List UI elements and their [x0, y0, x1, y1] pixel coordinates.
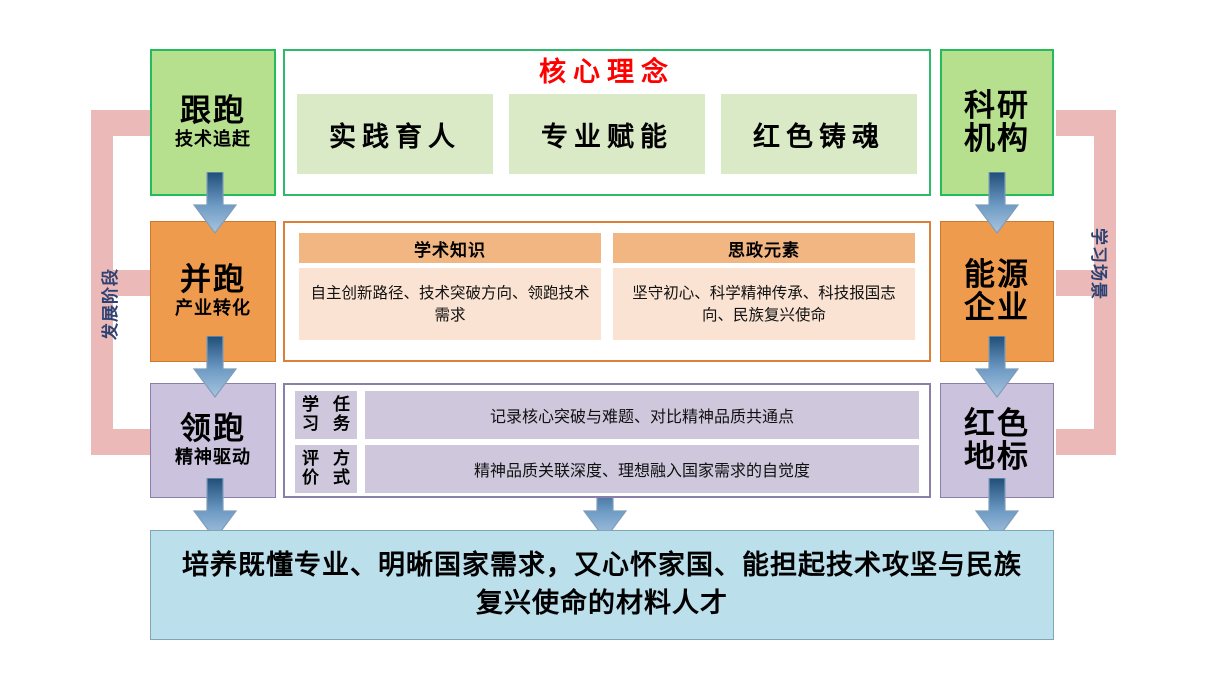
right-bracket-arm-top [1056, 110, 1116, 136]
arrow-down-energy-to-landmark [975, 336, 1019, 398]
core-concept-panel: 核心理念 实践育人 专业赋能 红色铸魂 [283, 49, 931, 196]
knowledge-academic-body: 自主创新路径、技术突破方向、领跑技术需求 [299, 268, 601, 340]
core-item-major[interactable]: 专业赋能 [509, 94, 705, 174]
task-row-evaluation: 评价 方式 精神品质关联深度、理想融入国家需求的自觉度 [295, 445, 919, 493]
right-bracket-arm-bottom [1056, 429, 1116, 455]
stage-bingpao-title: 并跑 [180, 264, 246, 297]
arrow-down-bingpao-to-lingpao [193, 336, 237, 398]
left-bracket-arm-top [91, 110, 151, 136]
task-text-learning: 记录核心突破与难题、对比精神品质共通点 [365, 391, 919, 439]
scene-research-line2: 机构 [964, 123, 1030, 156]
knowledge-panel: 学术知识 自主创新路径、技术突破方向、领跑技术需求 思政元素 坚守初心、科学精神… [283, 221, 931, 362]
task-label-evaluation-line1: 评价 [295, 450, 326, 488]
task-label-evaluation: 评价 方式 [295, 445, 357, 493]
diagram-canvas: 发展阶段 学习场景 跟跑 技术追赶 并跑 产业转化 领跑 精神驱动 科研 机构 … [0, 0, 1205, 680]
core-item-red[interactable]: 红色铸魂 [721, 94, 917, 174]
arrow-down-genpao-to-bingpao [193, 172, 237, 234]
knowledge-ideology-body: 坚守初心、科学精神传承、科技报国志向、民族复兴使命 [613, 268, 915, 340]
left-bracket-arm-bottom [91, 429, 151, 455]
left-bracket-label: 发展阶段 [96, 268, 121, 340]
arrow-down-research-to-energy [975, 172, 1019, 234]
core-item-practice[interactable]: 实践育人 [297, 94, 493, 174]
stage-bingpao-sub: 产业转化 [175, 299, 251, 319]
stage-genpao-sub: 技术追赶 [175, 130, 251, 150]
right-bracket-label: 学习场景 [1088, 228, 1113, 300]
scene-energy-line1: 能源 [964, 259, 1030, 292]
task-label-learning: 学习 任务 [295, 391, 357, 439]
core-concept-items: 实践育人 专业赋能 红色铸魂 [285, 94, 929, 174]
knowledge-academic-header: 学术知识 [299, 233, 601, 263]
scene-landmark-line1: 红色 [964, 408, 1030, 441]
knowledge-column-ideology: 思政元素 坚守初心、科学精神传承、科技报国志向、民族复兴使命 [613, 233, 915, 340]
task-label-evaluation-line2: 方式 [326, 450, 357, 488]
task-label-learning-line2: 任务 [326, 396, 357, 434]
stage-genpao-title: 跟跑 [180, 95, 246, 128]
goal-box: 培养既懂专业、明晰国家需求，又心怀家国、能担起技术攻坚与民族复兴使命的材料人才 [150, 530, 1054, 640]
stage-lingpao-sub: 精神驱动 [175, 448, 251, 468]
core-concept-title: 核心理念 [285, 59, 929, 86]
knowledge-columns: 学术知识 自主创新路径、技术突破方向、领跑技术需求 思政元素 坚守初心、科学精神… [285, 233, 929, 340]
knowledge-column-academic: 学术知识 自主创新路径、技术突破方向、领跑技术需求 [299, 233, 601, 340]
scene-energy-line2: 企业 [964, 292, 1030, 325]
task-label-learning-line1: 学习 [295, 396, 326, 434]
knowledge-ideology-header: 思政元素 [613, 233, 915, 263]
stage-lingpao-title: 领跑 [180, 413, 246, 446]
task-row-learning: 学习 任务 记录核心突破与难题、对比精神品质共通点 [295, 391, 919, 439]
scene-landmark-line2: 地标 [964, 441, 1030, 474]
scene-research-line1: 科研 [964, 90, 1030, 123]
task-evaluation-panel: 学习 任务 记录核心突破与难题、对比精神品质共通点 评价 方式 精神品质关联深度… [283, 383, 931, 498]
task-text-evaluation: 精神品质关联深度、理想融入国家需求的自觉度 [365, 445, 919, 493]
